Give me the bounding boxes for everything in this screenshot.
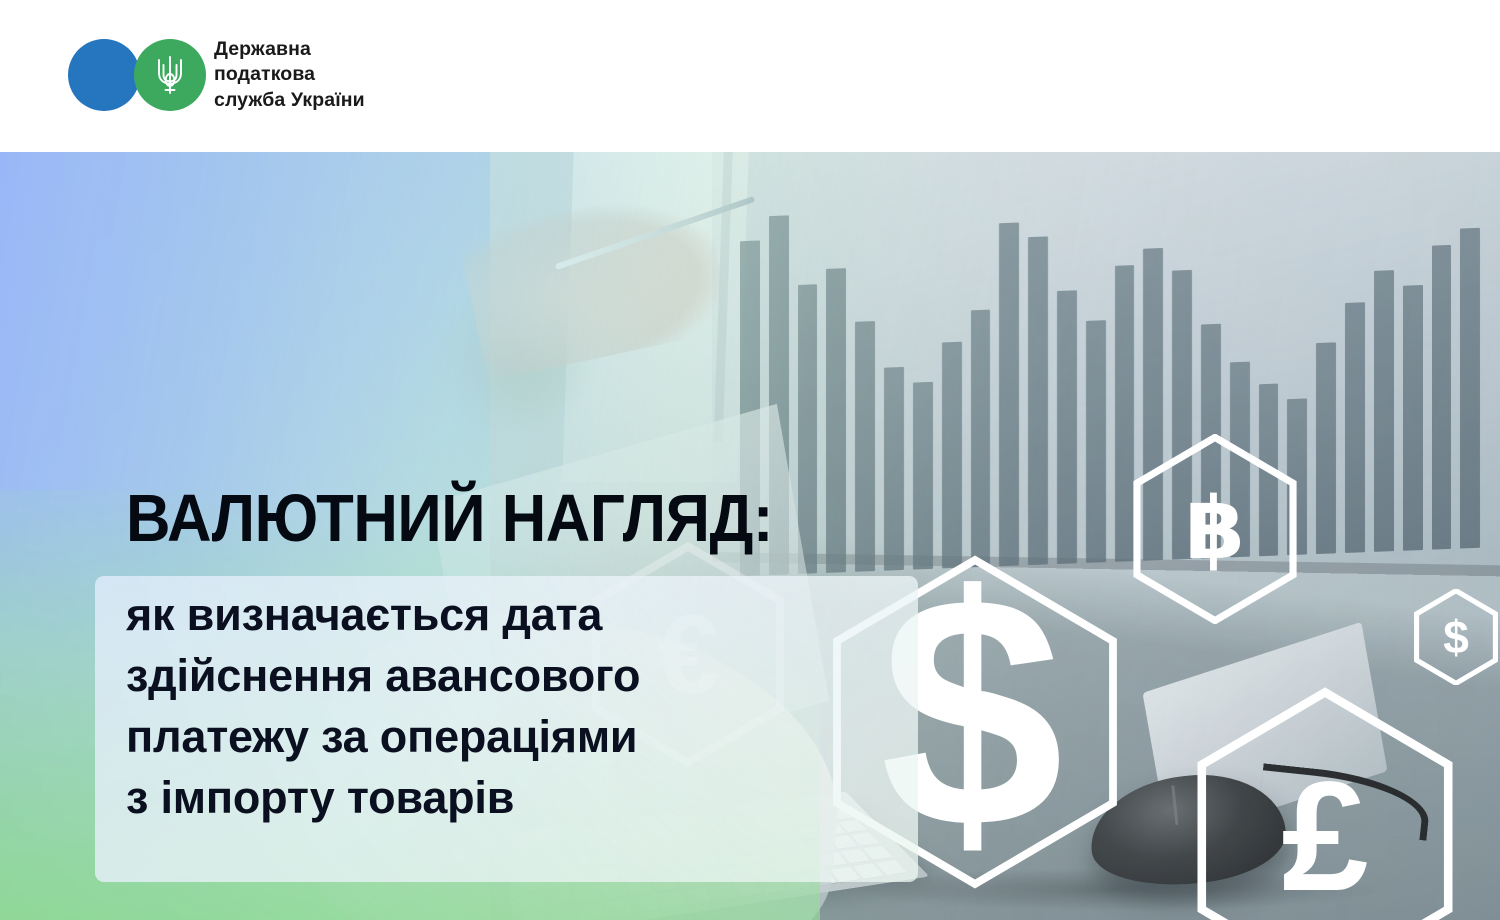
logo-blue-circle-icon <box>68 39 140 111</box>
bar-12 <box>1057 290 1077 564</box>
bar-22 <box>1345 303 1365 553</box>
org-line-1: Державна <box>214 37 365 62</box>
bar-26 <box>1460 228 1480 549</box>
pound-symbol: £ <box>1190 687 1460 920</box>
subtitle-line-2: здійснення авансового <box>126 649 640 710</box>
baht-symbol: ฿ <box>1130 434 1300 624</box>
logo-green-circle-icon <box>134 39 206 111</box>
subtitle-line-1: як визначається дата <box>126 588 640 649</box>
bar-5 <box>855 321 875 571</box>
dollar-symbol-small: $ <box>1413 589 1499 685</box>
dollar-hexagon-small: $ <box>1413 589 1499 685</box>
bar-11 <box>1028 237 1048 565</box>
org-line-3: служба України <box>214 88 365 113</box>
logo-marks <box>68 36 206 114</box>
bar-21 <box>1316 343 1336 554</box>
banner-headline: ВАЛЮТНИЙ НАГЛЯД: <box>126 485 773 552</box>
subtitle-line-4: з імпорту товарів <box>126 771 640 832</box>
bar-25 <box>1432 245 1452 550</box>
bar-24 <box>1403 285 1423 551</box>
baht-hexagon: ฿ <box>1130 434 1300 624</box>
organization-logo[interactable]: Державна податкова служба України <box>68 36 365 114</box>
subtitle-line-3: платежу за операціями <box>126 710 640 771</box>
banner-subtitle: як визначається датаздійснення авансовог… <box>126 588 640 832</box>
org-line-2: податкова <box>214 62 365 87</box>
bar-3 <box>798 285 818 574</box>
bar-23 <box>1374 270 1394 552</box>
monitor-bar-chart <box>740 158 1480 576</box>
organization-name: Державна податкова служба України <box>214 37 365 113</box>
pound-hexagon: £ <box>1190 687 1460 920</box>
bar-4 <box>826 268 846 573</box>
bar-13 <box>1086 320 1106 563</box>
banner-stage: € $ ฿ £ $ ВАЛЮТНИЙ НАГЛЯД: як визначаєть… <box>0 152 1500 920</box>
bar-10 <box>999 222 1019 566</box>
tryzub-icon <box>153 53 187 97</box>
site-header: Державна податкова служба України <box>0 0 1500 152</box>
